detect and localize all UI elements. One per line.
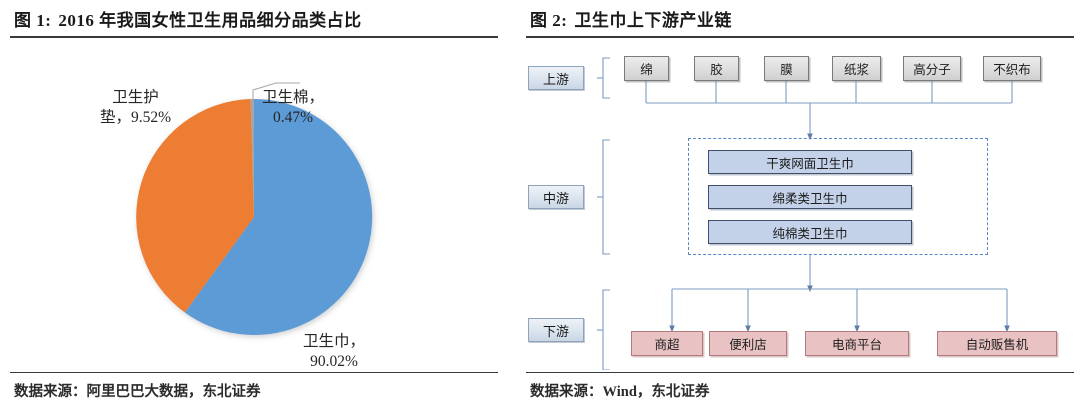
report-figures-page: 图 1:2016 年我国女性卫生用品细分品类占比 <box>0 0 1080 406</box>
upstream-node-mo[interactable]: 膜 <box>764 56 809 81</box>
figure1-header: 图 1:2016 年我国女性卫生用品细分品类占比 <box>14 6 362 31</box>
upstream-node-mian[interactable]: 绵 <box>624 56 669 81</box>
pie-slices <box>136 99 372 335</box>
downstream-node-shangchao-label: 商超 <box>654 334 679 353</box>
figure2-bottom-rule <box>526 372 1074 373</box>
pie-label-weishengmian: 卫生棉， 0.47% <box>262 88 324 129</box>
midstream-node-chunmian[interactable]: 纯棉类卫生巾 <box>708 220 912 244</box>
pie-label-weishengjin: 卫生巾， 90.02% <box>303 332 365 373</box>
upstream-node-zhijiang-label: 纸浆 <box>844 59 869 78</box>
pie-label-weishengmian-line1: 卫生棉， <box>262 88 324 108</box>
pie-chart-svg <box>0 42 508 368</box>
value-chain-diagram: 上游 中游 下游 绵 胶 膜 纸浆 高分子 <box>520 40 1080 370</box>
downstream-node-zidongfanshouji[interactable]: 自动贩售机 <box>937 331 1057 356</box>
figure2-number: 图 2: <box>530 11 567 30</box>
bracket-upstream <box>603 58 610 98</box>
figure2-top-rule <box>526 36 1074 38</box>
downstream-node-zidongfanshouji-label: 自动贩售机 <box>966 334 1029 353</box>
stage-label-downstream: 下游 <box>528 318 584 342</box>
figure-panel-right: 图 2:卫生巾上下游产业链 <box>520 0 1080 406</box>
pie-label-weishengjin-line2: 90.02% <box>303 352 365 372</box>
figure1-number: 图 1: <box>14 11 51 30</box>
upstream-node-buzhibu[interactable]: 不织布 <box>983 56 1041 81</box>
bracket-downstream <box>603 290 610 370</box>
stage-label-midstream-text: 中游 <box>543 188 569 207</box>
figure1-title: 2016 年我国女性卫生用品细分品类占比 <box>58 11 361 30</box>
downstream-node-dianshangpingtai[interactable]: 电商平台 <box>805 331 909 356</box>
midstream-node-mianrou[interactable]: 绵柔类卫生巾 <box>708 185 912 209</box>
upstream-node-mian-label: 绵 <box>640 59 653 78</box>
stage-label-midstream: 中游 <box>528 185 584 209</box>
figure2-title: 卫生巾上下游产业链 <box>574 11 732 30</box>
figure1-top-rule <box>10 36 498 38</box>
upstream-node-jiao-label: 胶 <box>710 59 723 78</box>
figure1-bottom-rule <box>10 372 498 373</box>
figure2-header: 图 2:卫生巾上下游产业链 <box>530 6 732 31</box>
downstream-node-dianshangpingtai-label: 电商平台 <box>832 334 882 353</box>
downstream-node-bianlidian-label: 便利店 <box>729 334 767 353</box>
upstream-node-buzhibu-label: 不织布 <box>993 59 1031 78</box>
downstream-node-shangchao[interactable]: 商超 <box>631 331 703 356</box>
pie-label-weishengmian-line2: 0.47% <box>262 108 324 128</box>
midstream-node-mianrou-label: 绵柔类卫生巾 <box>772 188 847 207</box>
upstream-node-mo-label: 膜 <box>780 59 793 78</box>
pie-label-weishengjin-line1: 卫生巾， <box>303 332 365 352</box>
pie-label-huidian: 卫生护 垫，9.52% <box>100 88 171 129</box>
stage-label-upstream-text: 上游 <box>543 69 569 88</box>
upstream-node-zhijiang[interactable]: 纸浆 <box>832 56 881 81</box>
pie-label-huidian-line2: 垫，9.52% <box>100 108 171 128</box>
upstream-node-gaofenzi[interactable]: 高分子 <box>903 56 961 81</box>
midstream-node-chunmian-label: 纯棉类卫生巾 <box>772 223 847 242</box>
figure1-source: 数据来源：阿里巴巴大数据，东北证券 <box>14 380 261 401</box>
pie-chart: 卫生护 垫，9.52% 卫生棉， 0.47% 卫生巾， 90.02% <box>0 42 508 368</box>
upstream-node-gaofenzi-label: 高分子 <box>913 59 951 78</box>
pie-label-huidian-line1: 卫生护 <box>100 88 171 108</box>
midstream-node-ganshuang[interactable]: 干爽网面卫生巾 <box>708 150 912 174</box>
upstream-node-jiao[interactable]: 胶 <box>694 56 739 81</box>
midstream-node-ganshuang-label: 干爽网面卫生巾 <box>766 153 854 172</box>
stage-label-downstream-text: 下游 <box>543 321 569 340</box>
downstream-node-bianlidian[interactable]: 便利店 <box>709 331 787 356</box>
figure2-source: 数据来源：Wind，东北证券 <box>530 380 709 401</box>
stage-label-upstream: 上游 <box>528 66 584 90</box>
bracket-midstream <box>603 140 610 254</box>
figure-panel-left: 图 1:2016 年我国女性卫生用品细分品类占比 <box>0 0 508 406</box>
